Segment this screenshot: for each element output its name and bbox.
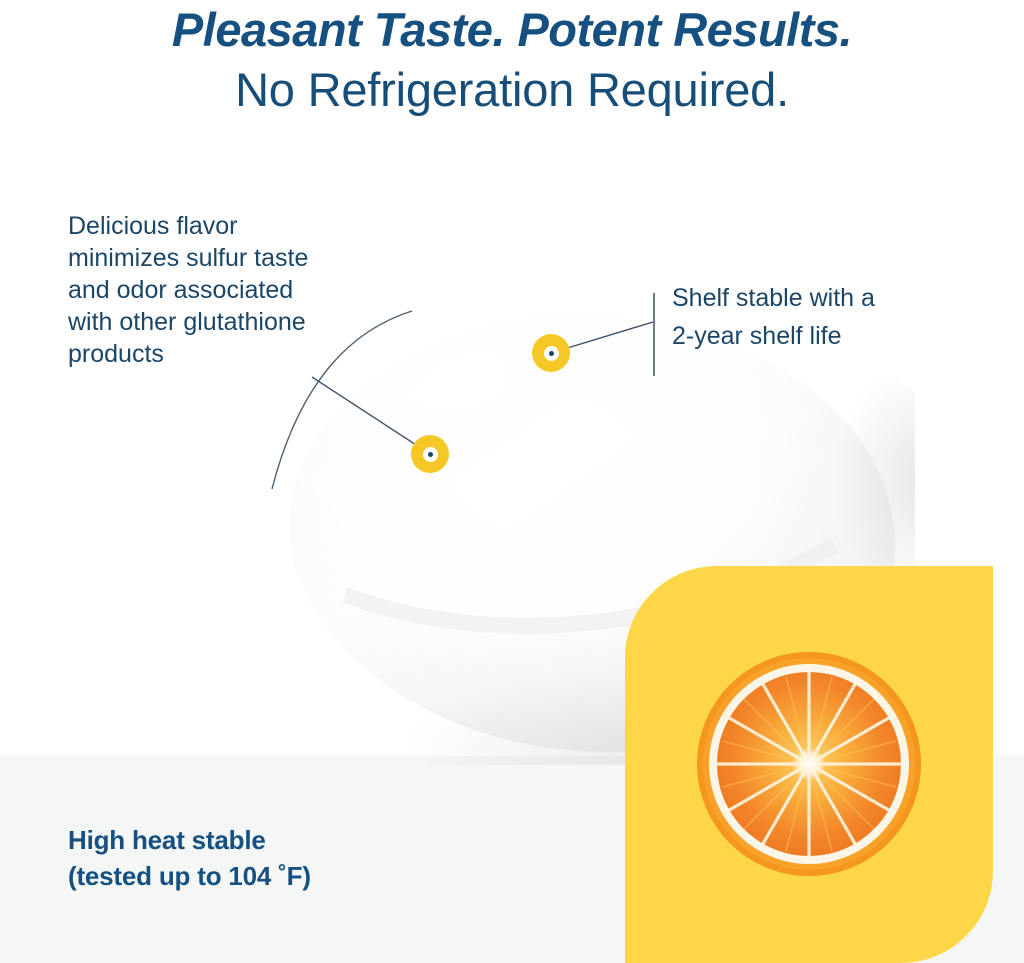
softgel-highlight — [330, 317, 680, 553]
headline-line-1: Pleasant Taste. Potent Results. — [0, 2, 1024, 58]
callout-text-shelf: Shelf stable with a 2-year shelf life — [672, 279, 992, 355]
bottom-caption: High heat stable (tested up to 104 ˚F) — [68, 822, 528, 894]
callout-dot-center — [549, 351, 554, 356]
infographic-page: Pleasant Taste. Potent Results. No Refri… — [0, 0, 1024, 963]
callout-dot-shelf[interactable] — [532, 334, 570, 372]
orange-feature-panel — [625, 566, 993, 963]
bottom-caption-line-2: (tested up to 104 ˚F) — [68, 858, 528, 894]
callout-shelf-line-2: 2-year shelf life — [672, 322, 842, 350]
callout-dot-flavor[interactable] — [411, 435, 449, 473]
callout-shelf-line-1: Shelf stable with a — [672, 284, 875, 312]
orange-slice-icon — [696, 651, 922, 877]
callout-dot-center — [428, 452, 433, 457]
callout-text-flavor: Delicious flavor minimizes sulfur taste … — [68, 210, 324, 370]
bottom-caption-line-1: High heat stable — [68, 822, 528, 858]
page-title: Pleasant Taste. Potent Results. No Refri… — [0, 0, 1024, 122]
headline-line-2: No Refrigeration Required. — [0, 58, 1024, 122]
orange-core — [792, 747, 826, 781]
